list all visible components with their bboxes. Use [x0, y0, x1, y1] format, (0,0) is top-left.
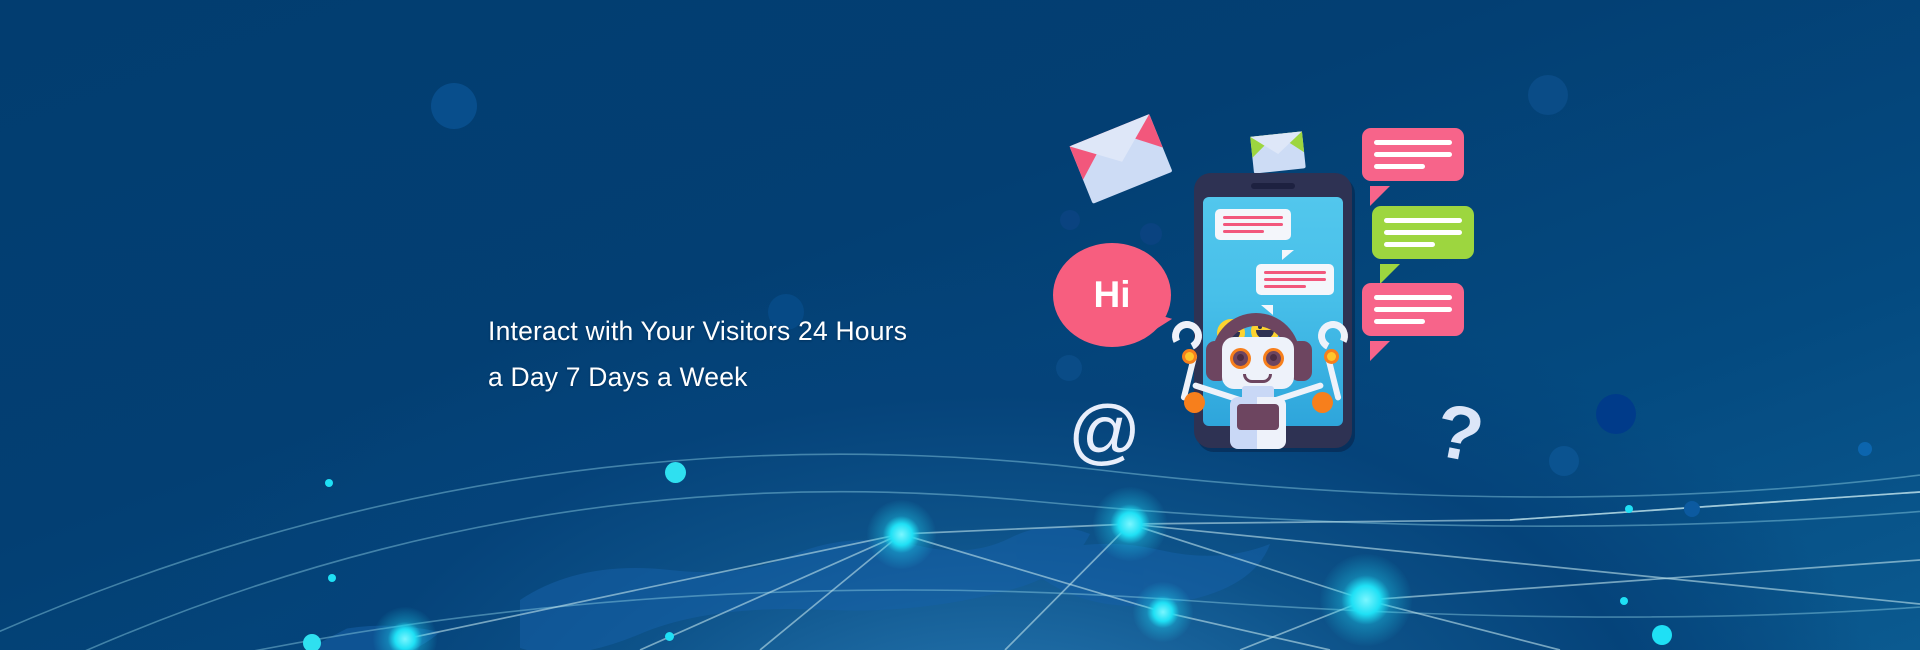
decor-dot-cyan	[328, 574, 336, 582]
phone-speaker	[1251, 183, 1295, 189]
chat-bubble-pink-top-tail	[1370, 186, 1390, 206]
bubble-line	[1384, 230, 1462, 235]
decor-dot-cyan	[665, 462, 686, 483]
bubble-line	[1374, 152, 1452, 157]
decor-dot	[1858, 442, 1872, 456]
robot-chest-panel	[1237, 404, 1279, 430]
network-node	[867, 500, 936, 569]
message-line	[1264, 278, 1326, 281]
robot-elbow-joint-left	[1182, 349, 1197, 364]
envelope-green	[1250, 131, 1306, 173]
robot-body	[1230, 397, 1286, 449]
hi-speech-bubble: Hi	[1053, 243, 1171, 347]
bubble-line	[1374, 319, 1425, 324]
chat-bubble-pink-top	[1362, 128, 1464, 181]
network-node	[1133, 582, 1193, 642]
message-line	[1223, 230, 1264, 233]
decor-dot-cyan	[1652, 625, 1672, 645]
robot-pupil	[1270, 354, 1277, 361]
message-line	[1223, 216, 1283, 219]
robot-eye-inner	[1266, 351, 1281, 366]
decor-dot-cyan	[1620, 597, 1628, 605]
message-line	[1223, 223, 1283, 226]
decor-dot-cyan	[665, 632, 674, 641]
at-symbol: @	[1068, 396, 1141, 468]
robot-eye-inner	[1233, 351, 1248, 366]
question-mark-symbol: ?	[1429, 392, 1489, 475]
phone-message-incoming-tail	[1282, 250, 1294, 260]
decor-dot-cyan	[303, 634, 321, 650]
robot-shoulder-joint-right	[1312, 392, 1333, 413]
chatbot-hero-banner: Interact with Your Visitors 24 Hours a D…	[0, 0, 1920, 650]
bubble-line	[1374, 140, 1452, 145]
chatbot-robot	[1170, 313, 1380, 448]
bubble-line	[1374, 307, 1452, 312]
chat-bubble-pink-bottom-tail	[1370, 341, 1390, 361]
envelope-pink	[1070, 114, 1173, 204]
chat-bubble-green	[1372, 206, 1474, 259]
robot-head	[1222, 337, 1294, 389]
decor-dot	[1528, 75, 1568, 115]
chatbot-illustration: Hi	[1040, 128, 1660, 548]
robot-eye-left	[1230, 348, 1251, 369]
robot-elbow-joint-right	[1324, 349, 1339, 364]
chat-bubble-green-tail	[1380, 264, 1400, 284]
message-line	[1264, 271, 1326, 274]
chat-bubble-pink-bottom	[1362, 283, 1464, 336]
bubble-line	[1374, 295, 1452, 300]
hi-bubble-label: Hi	[1094, 276, 1131, 313]
robot-shoulder-joint-left	[1184, 392, 1205, 413]
network-node	[1320, 554, 1412, 646]
bubble-line	[1384, 242, 1435, 247]
decor-dot	[1684, 501, 1700, 517]
robot-smile	[1243, 374, 1272, 383]
decor-dot	[431, 83, 477, 129]
bubble-line	[1374, 164, 1425, 169]
phone-message-outgoing	[1256, 264, 1334, 295]
bubble-line	[1384, 218, 1462, 223]
page-title: Interact with Your Visitors 24 Hours a D…	[488, 308, 1048, 400]
robot-pupil	[1237, 354, 1244, 361]
robot-eye-right	[1263, 348, 1284, 369]
phone-message-incoming	[1215, 209, 1291, 240]
decor-dot-cyan	[325, 479, 333, 487]
message-line	[1264, 285, 1306, 288]
